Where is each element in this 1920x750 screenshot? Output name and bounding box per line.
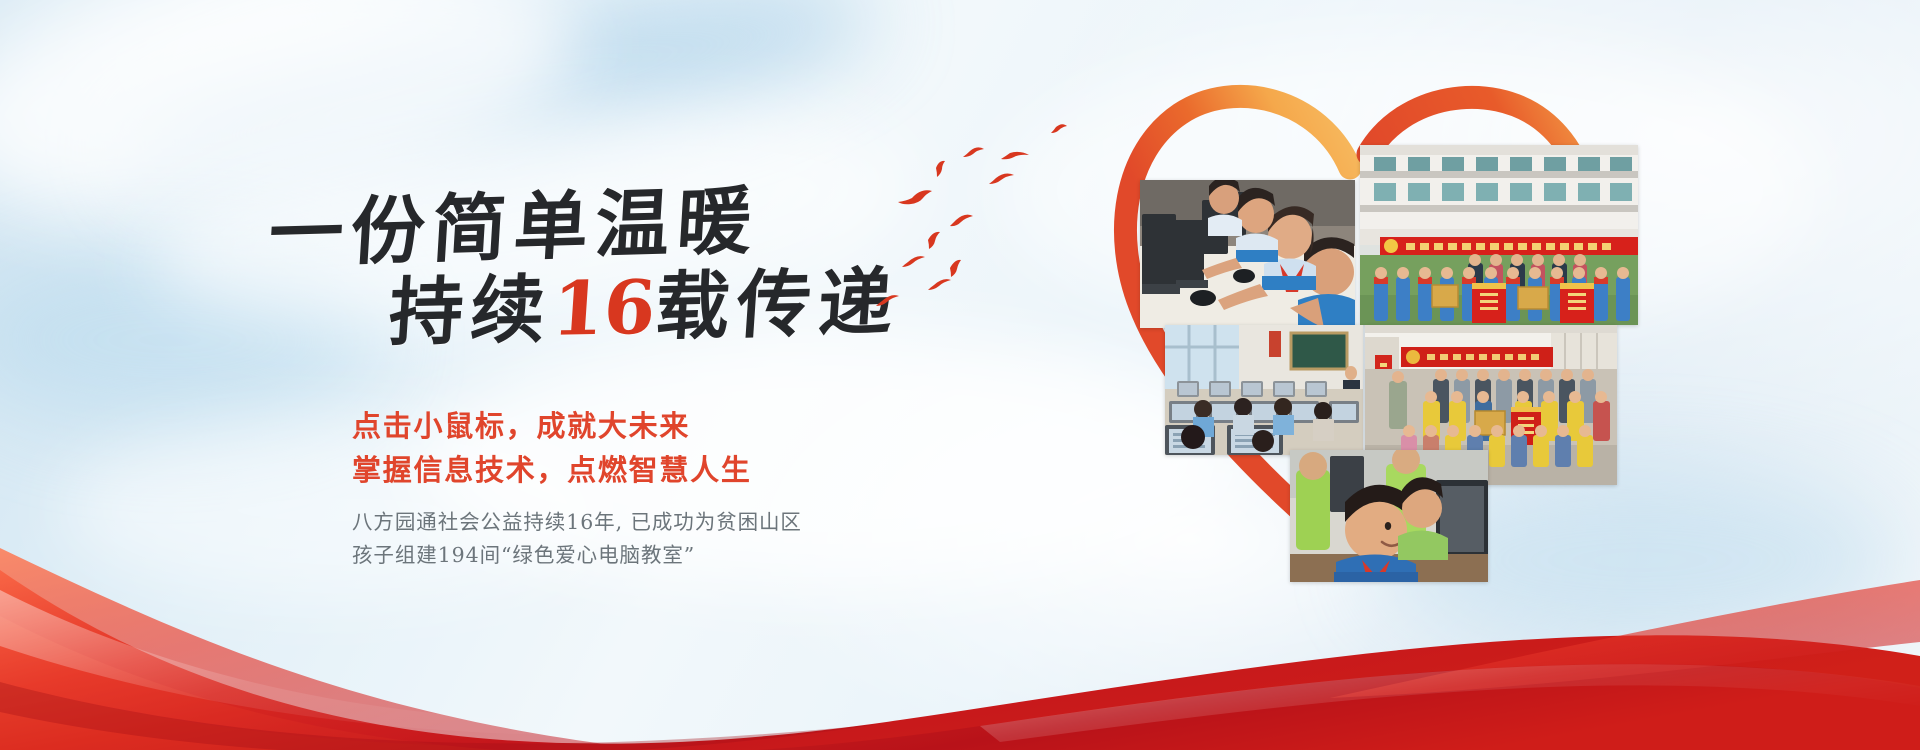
photo-award-ceremony-blue <box>1360 145 1638 325</box>
headline-line-2: 持续16载传递 <box>386 243 904 361</box>
charity-banner: 一份简单温暖 持续16载传递 点击小鼠标，成就大未来 掌握信息技术，点燃智慧人生… <box>0 0 1920 750</box>
red-silk-ribbon-wave <box>0 420 1920 750</box>
headline-line-2-prefix: 持续 <box>386 267 555 356</box>
headline-years-number: 16 <box>549 265 658 353</box>
photo-students-computers <box>1140 180 1355 328</box>
